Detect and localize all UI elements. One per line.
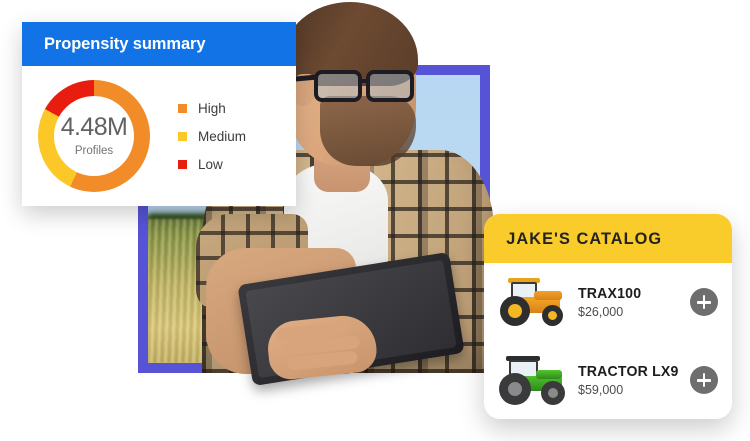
legend-swatch-low <box>178 160 187 169</box>
legend-label-high: High <box>198 101 226 116</box>
propensity-card-body: 4.48M Profiles High Medium Low <box>22 66 296 206</box>
donut-center-value: 4.48M <box>61 115 127 140</box>
page-title: Propensity summary <box>44 35 205 54</box>
propensity-card-header: Propensity summary <box>22 22 296 66</box>
catalog-title: JAKE'S CATALOG <box>506 229 662 249</box>
beard <box>320 96 416 166</box>
orange-tractor-icon <box>494 274 572 330</box>
catalog-item-name: TRAX100 <box>578 285 683 302</box>
catalog-item-row[interactable]: TRACTOR LX9 $59,000 <box>484 341 732 419</box>
catalog-item-info: TRAX100 $26,000 <box>578 285 690 319</box>
legend-item-low[interactable]: Low <box>178 150 246 178</box>
chart-legend: High Medium Low <box>178 94 246 178</box>
catalog-item-price: $59,000 <box>578 383 690 397</box>
catalog-item-row[interactable]: TRAX100 $26,000 <box>484 263 732 341</box>
catalog-item-name: TRACTOR LX9 <box>578 363 683 380</box>
legend-label-low: Low <box>198 157 223 172</box>
catalog-item-info: TRACTOR LX9 $59,000 <box>578 363 690 397</box>
catalog-item-price: $26,000 <box>578 305 690 319</box>
glasses-lens-right <box>366 70 414 102</box>
legend-swatch-medium <box>178 132 187 141</box>
legend-swatch-high <box>178 104 187 113</box>
jakes-catalog-card: JAKE'S CATALOG TRAX100 $26,000 <box>484 214 732 419</box>
composition-stage: Propensity summary 4.48M Profiles High M… <box>0 0 750 441</box>
catalog-header: JAKE'S CATALOG <box>484 214 732 263</box>
green-tractor-icon <box>494 352 572 408</box>
legend-label-medium: Medium <box>198 129 246 144</box>
donut-center-label: Profiles <box>75 145 113 157</box>
add-item-button[interactable] <box>690 366 718 394</box>
legend-item-medium[interactable]: Medium <box>178 122 246 150</box>
glasses-lens-left <box>314 70 362 102</box>
hand <box>265 313 378 382</box>
donut-center: 4.48M Profiles <box>54 96 134 176</box>
legend-item-high[interactable]: High <box>178 94 246 122</box>
propensity-summary-card: Propensity summary 4.48M Profiles High M… <box>22 22 296 206</box>
add-item-button[interactable] <box>690 288 718 316</box>
propensity-donut-chart[interactable]: 4.48M Profiles <box>38 80 150 192</box>
eyeglasses <box>314 70 426 104</box>
